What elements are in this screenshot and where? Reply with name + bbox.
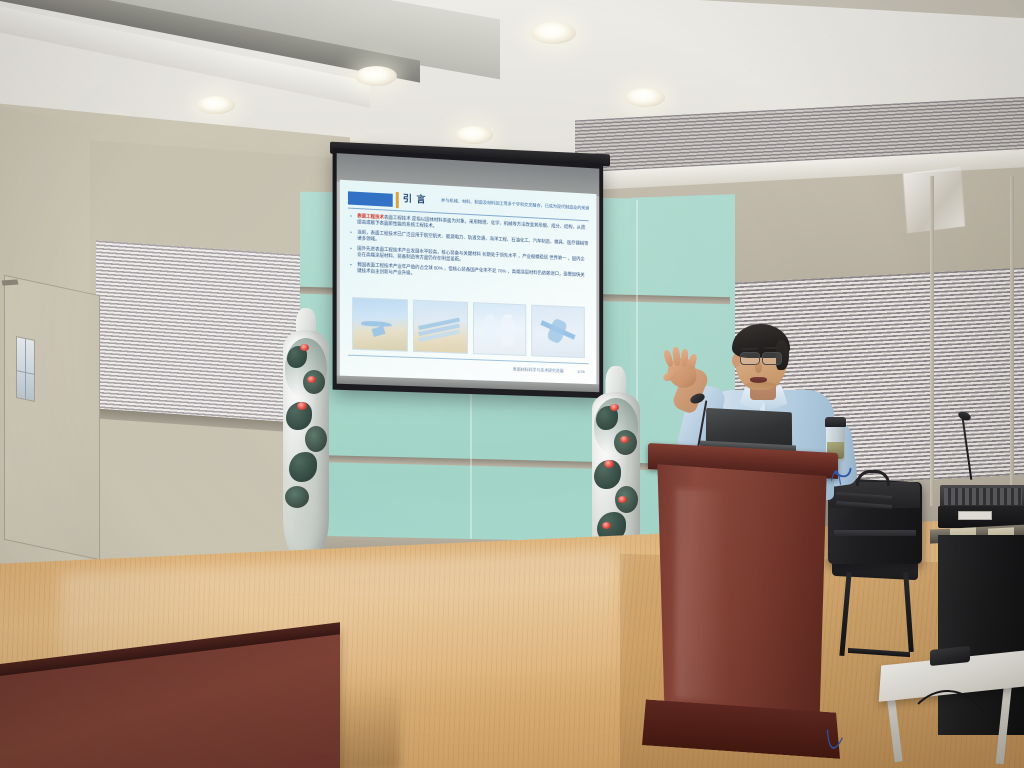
slide-image-strip <box>352 297 585 358</box>
slide-footer-text: 表面材料科学与技术研究进展 <box>513 367 564 375</box>
slide-image-aircraft-on-runway <box>352 297 408 352</box>
vase-flower-motif <box>604 460 614 468</box>
eyeglasses-bridge <box>759 357 763 358</box>
vase-flower-motif <box>618 496 627 503</box>
slide-page-number: 1/26 <box>577 369 585 375</box>
projector-screen-surface: 引 言 并与机械、材料、制造及材料加工等多个学科交叉融合，已成为现代制造业的关键… <box>337 153 600 392</box>
wall-seam <box>1010 176 1014 506</box>
vase-flower-motif <box>610 404 619 411</box>
downlight-icon <box>197 96 235 114</box>
slide-image-cleanroom-technicians <box>472 302 526 356</box>
av-equipment-label <box>958 511 992 520</box>
speaker-chin-shadow <box>744 382 778 390</box>
decorative-floor-vase <box>283 330 329 560</box>
vase-flower-motif <box>307 376 316 383</box>
slide-image-fighter-jet <box>531 305 584 359</box>
downlight-icon <box>625 88 665 107</box>
presentation-slide: 引 言 并与机械、材料、制造及材料加工等多个学科交叉融合，已成为现代制造业的关键… <box>340 180 597 385</box>
wall-seam <box>930 176 934 506</box>
downlight-icon <box>355 66 397 86</box>
vase-leaf-motif <box>285 486 309 508</box>
projector-screen[interactable]: 引 言 并与机械、材料、制造及材料加工等多个学科交叉融合，已成为现代制造业的关键… <box>333 148 604 398</box>
downlight-icon <box>455 126 493 144</box>
slide-blue-accent <box>348 191 393 207</box>
vase-leaf-motif <box>305 426 327 452</box>
downlight-icon <box>531 22 576 44</box>
wall-tape-patch <box>903 167 965 234</box>
speaker-nose <box>755 362 762 373</box>
laptop-bag-handle[interactable] <box>856 470 890 486</box>
eyeglasses-lens-right <box>762 352 782 365</box>
side-exit-door[interactable] <box>4 275 100 560</box>
thermos-lid[interactable] <box>825 417 846 427</box>
vase-flower-motif <box>300 344 309 351</box>
vase-flower-motif <box>602 522 611 529</box>
slide-title: 引 言 <box>403 191 427 205</box>
laptop-bag-stripe <box>834 530 916 536</box>
lecture-hall-scene: 引 言 并与机械、材料、制造及材料加工等多个学科交叉融合，已成为现代制造业的关键… <box>0 0 1024 768</box>
podium-highlight <box>676 488 728 702</box>
slide-gold-accent <box>396 192 399 208</box>
vase-flower-motif <box>297 402 307 410</box>
slide-bullet-list: 表面工程技术表面工程技术 是指以固体材料表面为对象，采用物理、化学、机械等方法改… <box>350 213 589 288</box>
slide-image-industrial-production-line <box>413 300 468 354</box>
door-window <box>16 336 35 402</box>
vase-flower-motif <box>620 436 629 443</box>
